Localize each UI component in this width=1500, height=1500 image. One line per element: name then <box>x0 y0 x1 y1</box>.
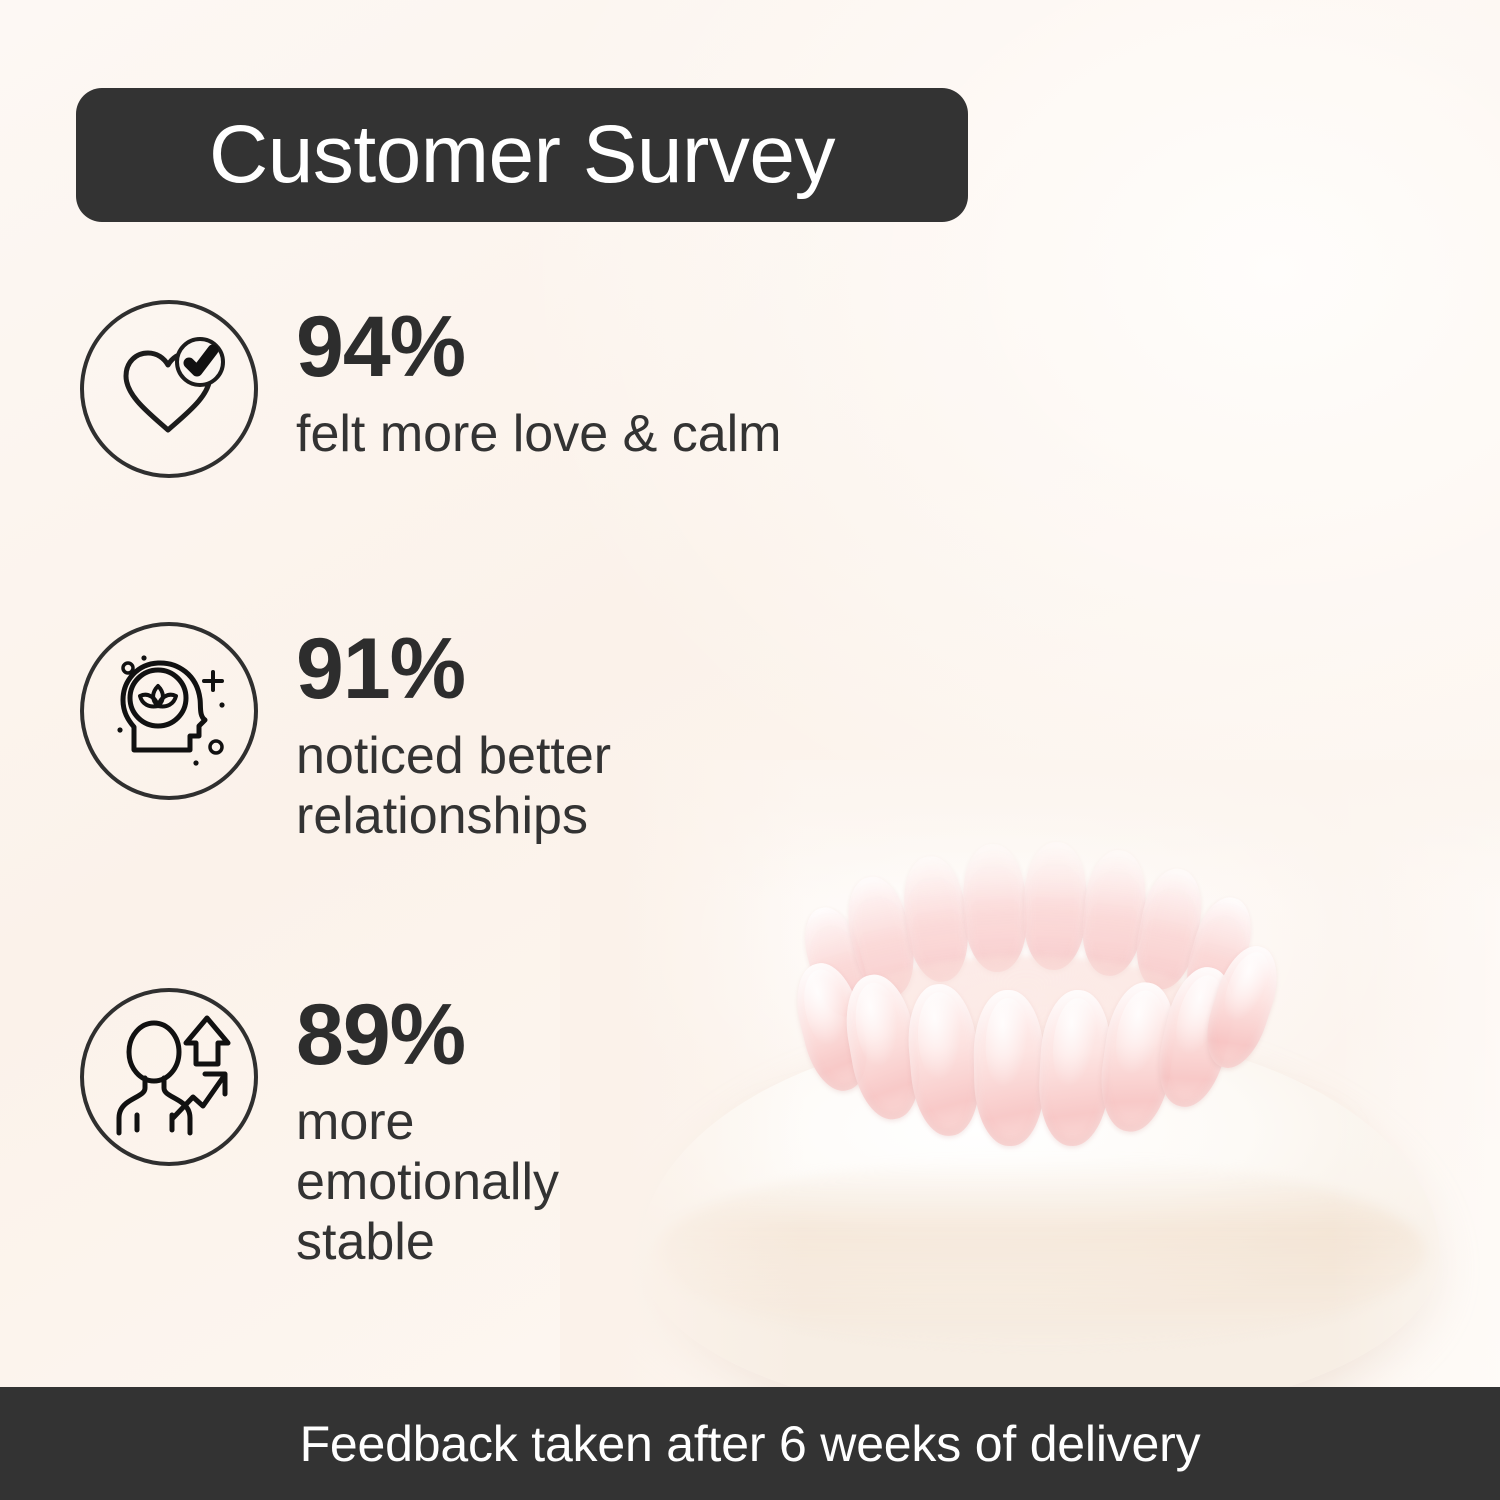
page-title-badge: Customer Survey <box>76 88 968 222</box>
stat-item-relationships: 91% noticed better relationships <box>80 622 611 846</box>
page-title: Customer Survey <box>209 114 835 196</box>
rose-quartz-bracelet <box>796 834 1266 1164</box>
pedestal-rim <box>656 1158 1426 1348</box>
product-photo <box>560 760 1500 1390</box>
mindful-head-lotus-icon <box>80 622 258 800</box>
person-growth-arrow-icon <box>80 988 258 1166</box>
footer-note: Feedback taken after 6 weeks of delivery <box>300 1415 1201 1473</box>
stat-label: felt more love & calm <box>296 404 782 464</box>
heart-check-icon <box>80 300 258 478</box>
customer-survey-infographic: Customer Survey 94% felt more love & cal… <box>0 0 1500 1500</box>
stat-text-block: 91% noticed better relationships <box>296 622 611 846</box>
stat-text-block: 89% more emotionally stable <box>296 988 559 1273</box>
stat-text-block: 94% felt more love & calm <box>296 300 782 464</box>
stat-value: 89% <box>296 992 559 1080</box>
stat-label: more emotionally stable <box>296 1092 559 1273</box>
stat-item-love-calm: 94% felt more love & calm <box>80 300 782 478</box>
stat-value: 94% <box>296 304 782 392</box>
stat-item-emotionally-stable: 89% more emotionally stable <box>80 988 559 1273</box>
stat-value: 91% <box>296 626 611 714</box>
stat-label: noticed better relationships <box>296 726 611 847</box>
footer-note-bar: Feedback taken after 6 weeks of delivery <box>0 1387 1500 1500</box>
